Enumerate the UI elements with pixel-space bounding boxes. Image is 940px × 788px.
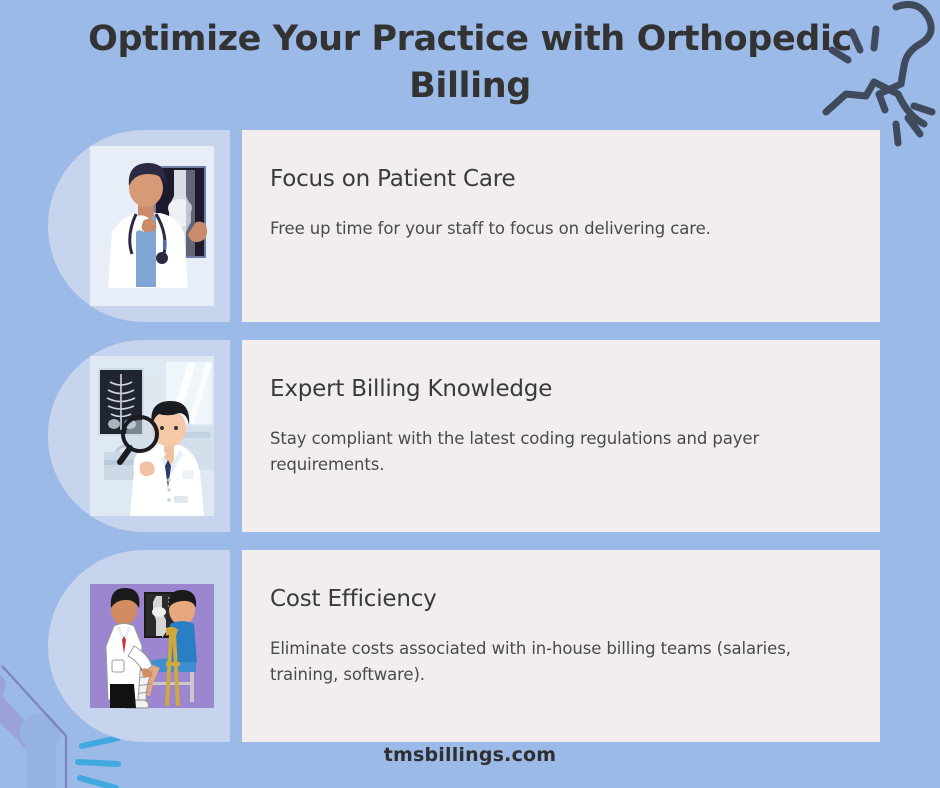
benefit-row: Focus on Patient Care Free up time for y… xyxy=(0,130,940,322)
benefit-body: Free up time for your staff to focus on … xyxy=(270,216,830,243)
benefit-heading: Focus on Patient Care xyxy=(270,166,846,194)
benefit-card: Focus on Patient Care Free up time for y… xyxy=(242,130,880,322)
benefit-heading: Expert Billing Knowledge xyxy=(270,376,846,404)
benefit-row: Expert Billing Knowledge Stay compliant … xyxy=(0,340,940,532)
footer: tmsbillings.com xyxy=(0,744,940,766)
page-title: Optimize Your Practice with Orthopedic B… xyxy=(0,16,940,110)
benefit-heading: Cost Efficiency xyxy=(270,586,846,614)
doctor-holding-knee-xray-illustration xyxy=(90,146,214,306)
website-url[interactable]: tmsbillings.com xyxy=(384,744,557,766)
title-block: Optimize Your Practice with Orthopedic B… xyxy=(0,16,940,110)
benefit-card: Cost Efficiency Eliminate costs associat… xyxy=(242,550,880,742)
illustration-pill xyxy=(48,130,230,322)
benefit-row: Cost Efficiency Eliminate costs associat… xyxy=(0,550,940,742)
benefit-card: Expert Billing Knowledge Stay compliant … xyxy=(242,340,880,532)
infographic-poster: Optimize Your Practice with Orthopedic B… xyxy=(0,0,940,788)
benefit-body: Stay compliant with the latest coding re… xyxy=(270,426,830,479)
illustration-pill xyxy=(48,550,230,742)
benefit-body: Eliminate costs associated with in-house… xyxy=(270,636,830,689)
illustration-pill xyxy=(48,340,230,532)
doctor-bandaging-patient-leg-illustration xyxy=(90,566,214,726)
doctor-magnifying-chest-xray-illustration xyxy=(90,356,214,516)
